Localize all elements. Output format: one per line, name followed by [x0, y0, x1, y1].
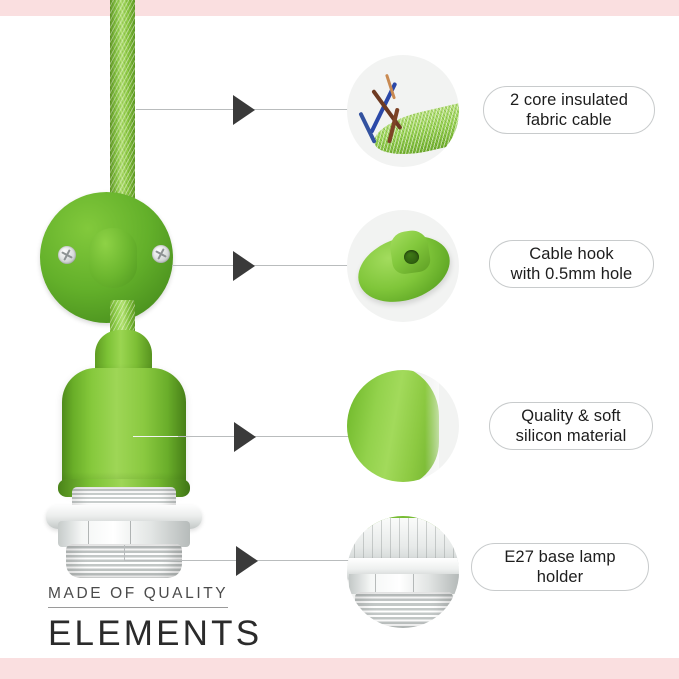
arrow-marker-4: [236, 546, 258, 576]
feature-label-4-line1: E27 base lamp: [504, 547, 615, 567]
feature-label-4: E27 base lamp holder: [471, 543, 649, 591]
brand-name: ELEMENTS: [48, 615, 288, 653]
infographic-canvas: 2 core insulated fabric cable Cable hook…: [0, 0, 679, 679]
cable-hook-boss: [89, 228, 137, 288]
hook-screw-left-icon: [58, 246, 76, 264]
e27-band-closeup-icon: [349, 574, 459, 594]
feature-label-2: Cable hook with 0.5mm hole: [489, 240, 654, 288]
feature-label-4-line2: holder: [504, 567, 615, 587]
connector-line-2: [172, 265, 358, 266]
brand-tagline: MADE OF QUALITY: [48, 585, 228, 608]
arrow-marker-1: [233, 95, 255, 125]
silicone-holder-body: [62, 368, 186, 492]
arrow-marker-2: [233, 251, 255, 281]
feature-label-2-line1: Cable hook: [511, 244, 633, 264]
detail-circle-cable-hook: [347, 210, 459, 322]
detail-circle-fabric-cable: [347, 55, 459, 167]
arrow-marker-3: [234, 422, 256, 452]
feature-label-2-line2: with 0.5mm hole: [511, 264, 633, 284]
silicone-surface-closeup-icon: [347, 370, 439, 482]
bottom-accent-band: [0, 658, 679, 679]
feature-label-3-line2: silicon material: [516, 426, 627, 446]
feature-label-1: 2 core insulated fabric cable: [483, 86, 655, 134]
hook-hole-icon: [404, 250, 419, 264]
feature-label-3-line1: Quality & soft: [516, 406, 627, 426]
feature-label-1-line2: fabric cable: [510, 110, 628, 130]
detail-circle-e27-holder: [347, 516, 459, 628]
brand-block: MADE OF QUALITY ELEMENTS: [48, 585, 288, 653]
e27-thread-closeup-icon: [355, 592, 453, 628]
detail-circle-silicone: [347, 370, 459, 482]
hook-screw-right-icon: [152, 245, 170, 263]
feature-label-1-line1: 2 core insulated: [510, 90, 628, 110]
connector-line-3: [178, 436, 358, 437]
product-illustration: [0, 0, 300, 620]
feature-label-3: Quality & soft silicon material: [489, 402, 653, 450]
connector-line-4-riser: [124, 545, 125, 561]
